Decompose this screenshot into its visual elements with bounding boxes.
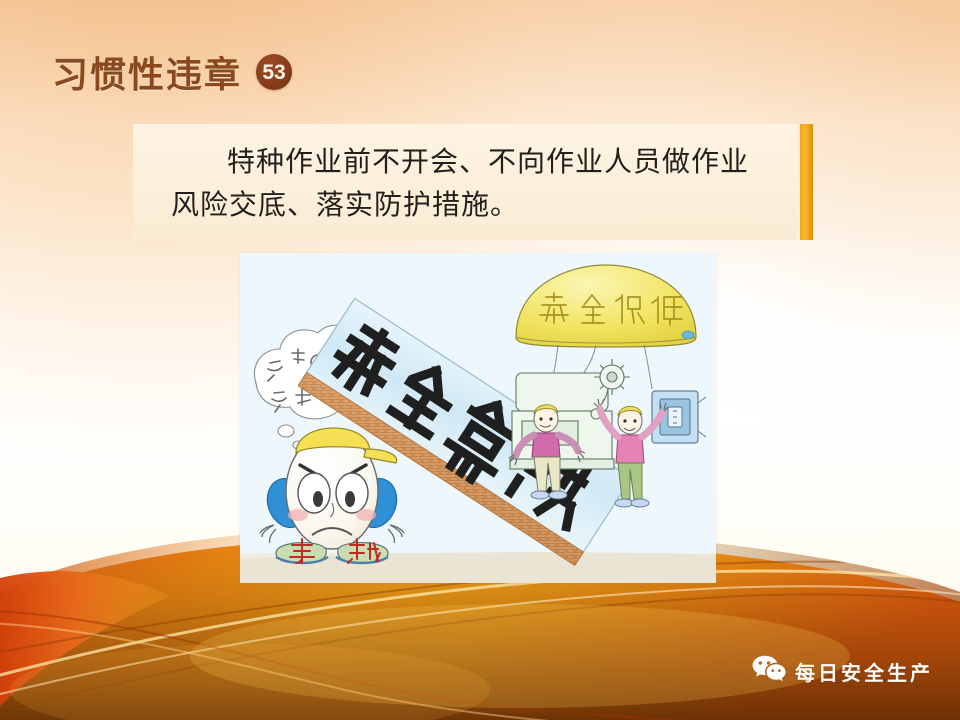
- caption-panel: 特种作业前不开会、不向作业人员做作业风险交底、落实防护措施。: [133, 124, 798, 240]
- caption-accent-bar: [800, 124, 813, 240]
- watermark-label: 每日安全生产: [795, 657, 933, 686]
- page-title-text: 习惯性违章: [52, 46, 242, 98]
- safety-illustration: [240, 253, 716, 583]
- page-title: 习惯性违章 53: [52, 46, 292, 98]
- caption-text: 特种作业前不开会、不向作业人员做作业风险交底、落实防护措施。: [171, 142, 772, 227]
- machine: [510, 359, 630, 469]
- wechat-icon: [752, 655, 786, 687]
- watermark: 每日安全生产: [752, 655, 933, 687]
- slide-canvas: 习惯性违章 53 特种作业前不开会、不向作业人员做作业风险交底、落实防护措施。: [0, 0, 960, 720]
- slide-number-badge: 53: [256, 54, 292, 90]
